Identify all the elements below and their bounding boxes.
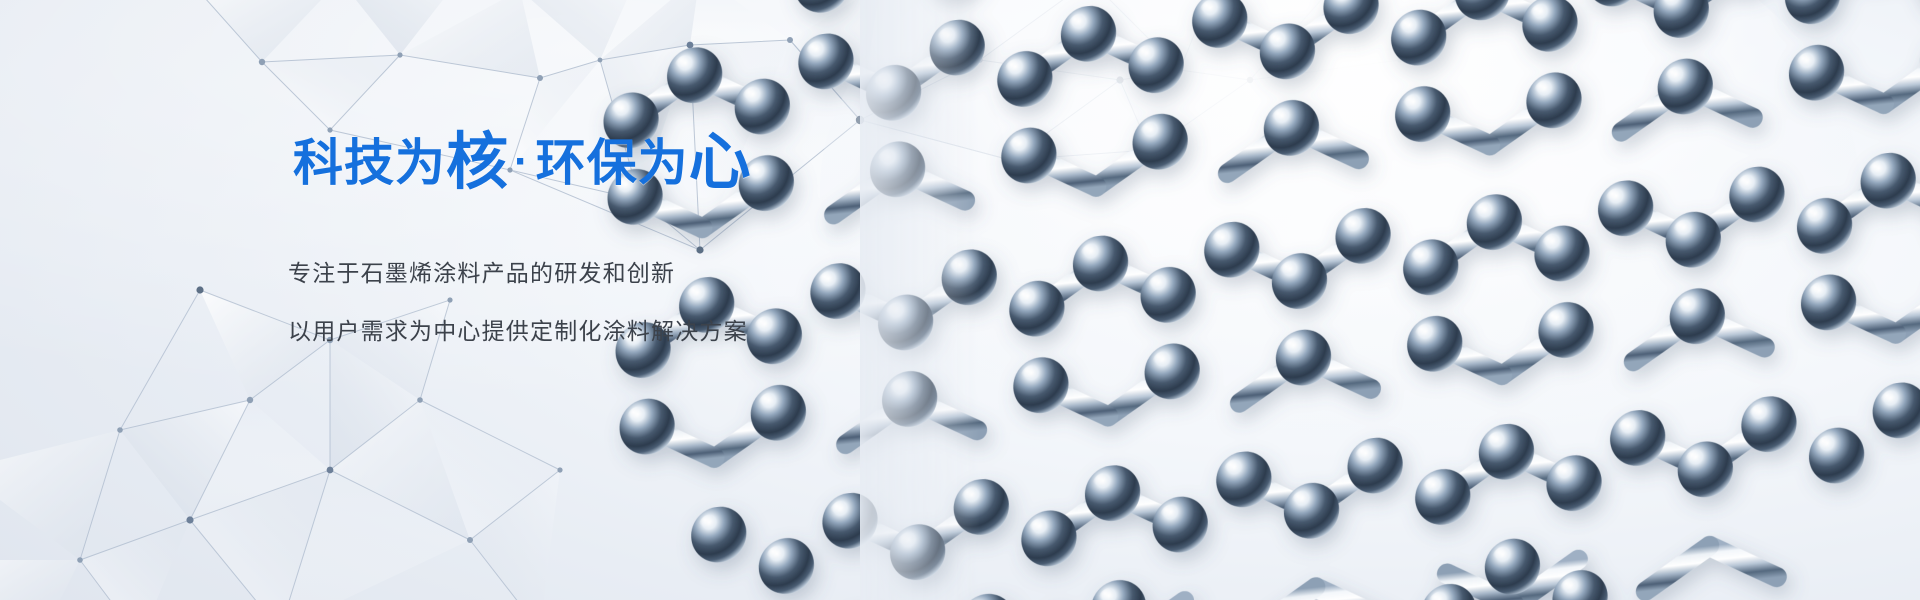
headline-segment-1: 科技为 [293, 135, 446, 191]
banner-subtitle-line-1: 专注于石墨烯涂料产品的研发和创新 [288, 262, 1048, 285]
banner-subtitle-line-2: 以用户需求为中心提供定制化涂料解决方案 [288, 320, 1048, 343]
headline-segment-2-emphasis: 核 [446, 128, 508, 197]
banner-text-block: 科技为核·环保为心 专注于石墨烯涂料产品的研发和创新 以用户需求为中心提供定制化… [288, 132, 1048, 343]
headline-segment-3: 环保为 [536, 135, 689, 191]
banner-headline: 科技为核·环保为心 [293, 132, 1048, 194]
headline-separator-dot: · [508, 137, 536, 186]
hero-banner: 科技为核·环保为心 专注于石墨烯涂料产品的研发和创新 以用户需求为中心提供定制化… [0, 0, 1920, 600]
headline-segment-4-emphasis: 心 [689, 128, 751, 197]
